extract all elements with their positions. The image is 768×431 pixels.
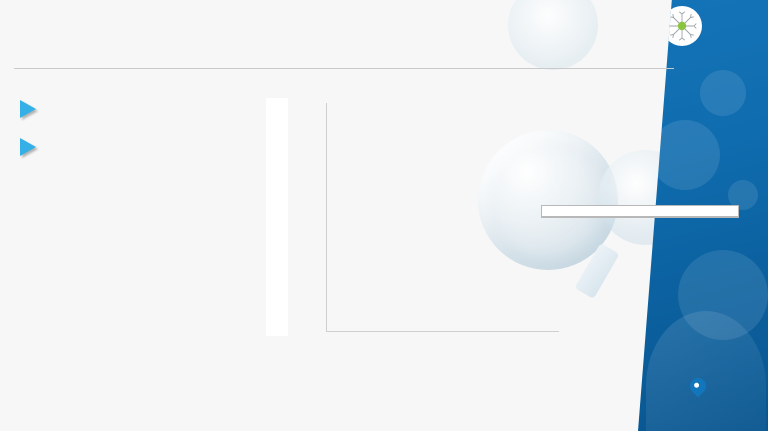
flask-decor-top [508,0,598,70]
y-axis-tick-labels [288,98,324,336]
bar-chart [268,98,568,353]
list-item [20,96,245,118]
neuron-icon [662,6,702,46]
flask-decor-neck [574,243,619,299]
chart-legend [541,205,739,218]
slide-root [0,0,768,431]
header-divider [14,68,674,69]
list-item [20,134,245,156]
bar-series [327,103,559,331]
plot-area [326,103,559,332]
logo-wordmark [648,378,748,394]
legend-title [542,206,738,217]
logo-droplet-icon [687,375,710,398]
y-axis-title [266,98,288,336]
tonix-logo [648,378,748,395]
bubble-decor-1 [650,120,720,190]
bubble-decor-2 [700,70,746,116]
arrow-bullet-icon [20,138,36,156]
bullet-list [20,96,245,172]
arrow-bullet-icon [20,100,36,118]
